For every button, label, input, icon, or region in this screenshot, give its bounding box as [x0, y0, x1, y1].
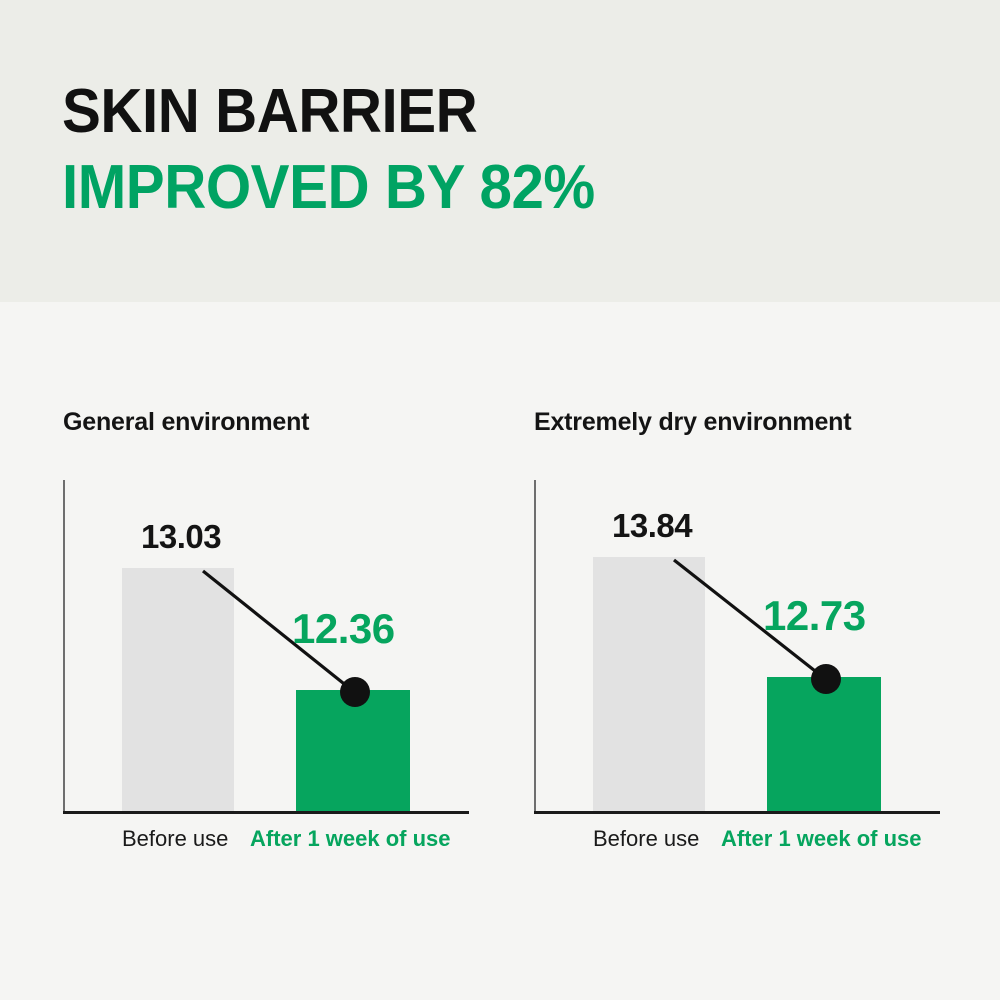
chart-extremely-dry-environment: Extremely dry environment 13.84 12.73 Be…: [523, 302, 993, 1000]
plot-area: 13.03 12.36: [63, 480, 480, 814]
value-label-before-use: 13.03: [141, 518, 221, 556]
category-label-before-use: Before use: [122, 826, 228, 852]
chart-title: Extremely dry environment: [534, 408, 851, 437]
y-axis-line: [63, 480, 65, 812]
bar-before-use: [593, 557, 705, 811]
plot-area: 13.84 12.73: [534, 480, 951, 814]
headline: SKIN BARRIER IMPROVED BY 82%: [62, 74, 962, 226]
category-labels: Before use After 1 week of use: [534, 826, 951, 866]
category-labels: Before use After 1 week of use: [63, 826, 480, 866]
category-label-before-use: Before use: [593, 826, 699, 852]
value-label-after-1-week: 12.73: [763, 592, 866, 640]
bar-before-use: [122, 568, 234, 811]
headline-line-1: SKIN BARRIER: [62, 74, 908, 150]
y-axis-line: [534, 480, 536, 812]
bar-after-1-week: [296, 690, 410, 811]
bar-after-1-week: [767, 677, 881, 811]
charts-area: General environment 13.03 12.36 Before u…: [0, 302, 1000, 1000]
category-label-after-1-week: After 1 week of use: [721, 826, 922, 852]
category-label-after-1-week: After 1 week of use: [250, 826, 451, 852]
value-label-before-use: 13.84: [612, 507, 692, 545]
x-axis-line: [63, 811, 469, 814]
chart-general-environment: General environment 13.03 12.36 Before u…: [52, 302, 522, 1000]
header-band: SKIN BARRIER IMPROVED BY 82%: [0, 0, 1000, 302]
headline-line-2: IMPROVED BY 82%: [62, 150, 908, 226]
x-axis-line: [534, 811, 940, 814]
chart-title: General environment: [63, 408, 309, 437]
value-label-after-1-week: 12.36: [292, 605, 395, 653]
infographic-page: SKIN BARRIER IMPROVED BY 82% General env…: [0, 0, 1000, 1000]
